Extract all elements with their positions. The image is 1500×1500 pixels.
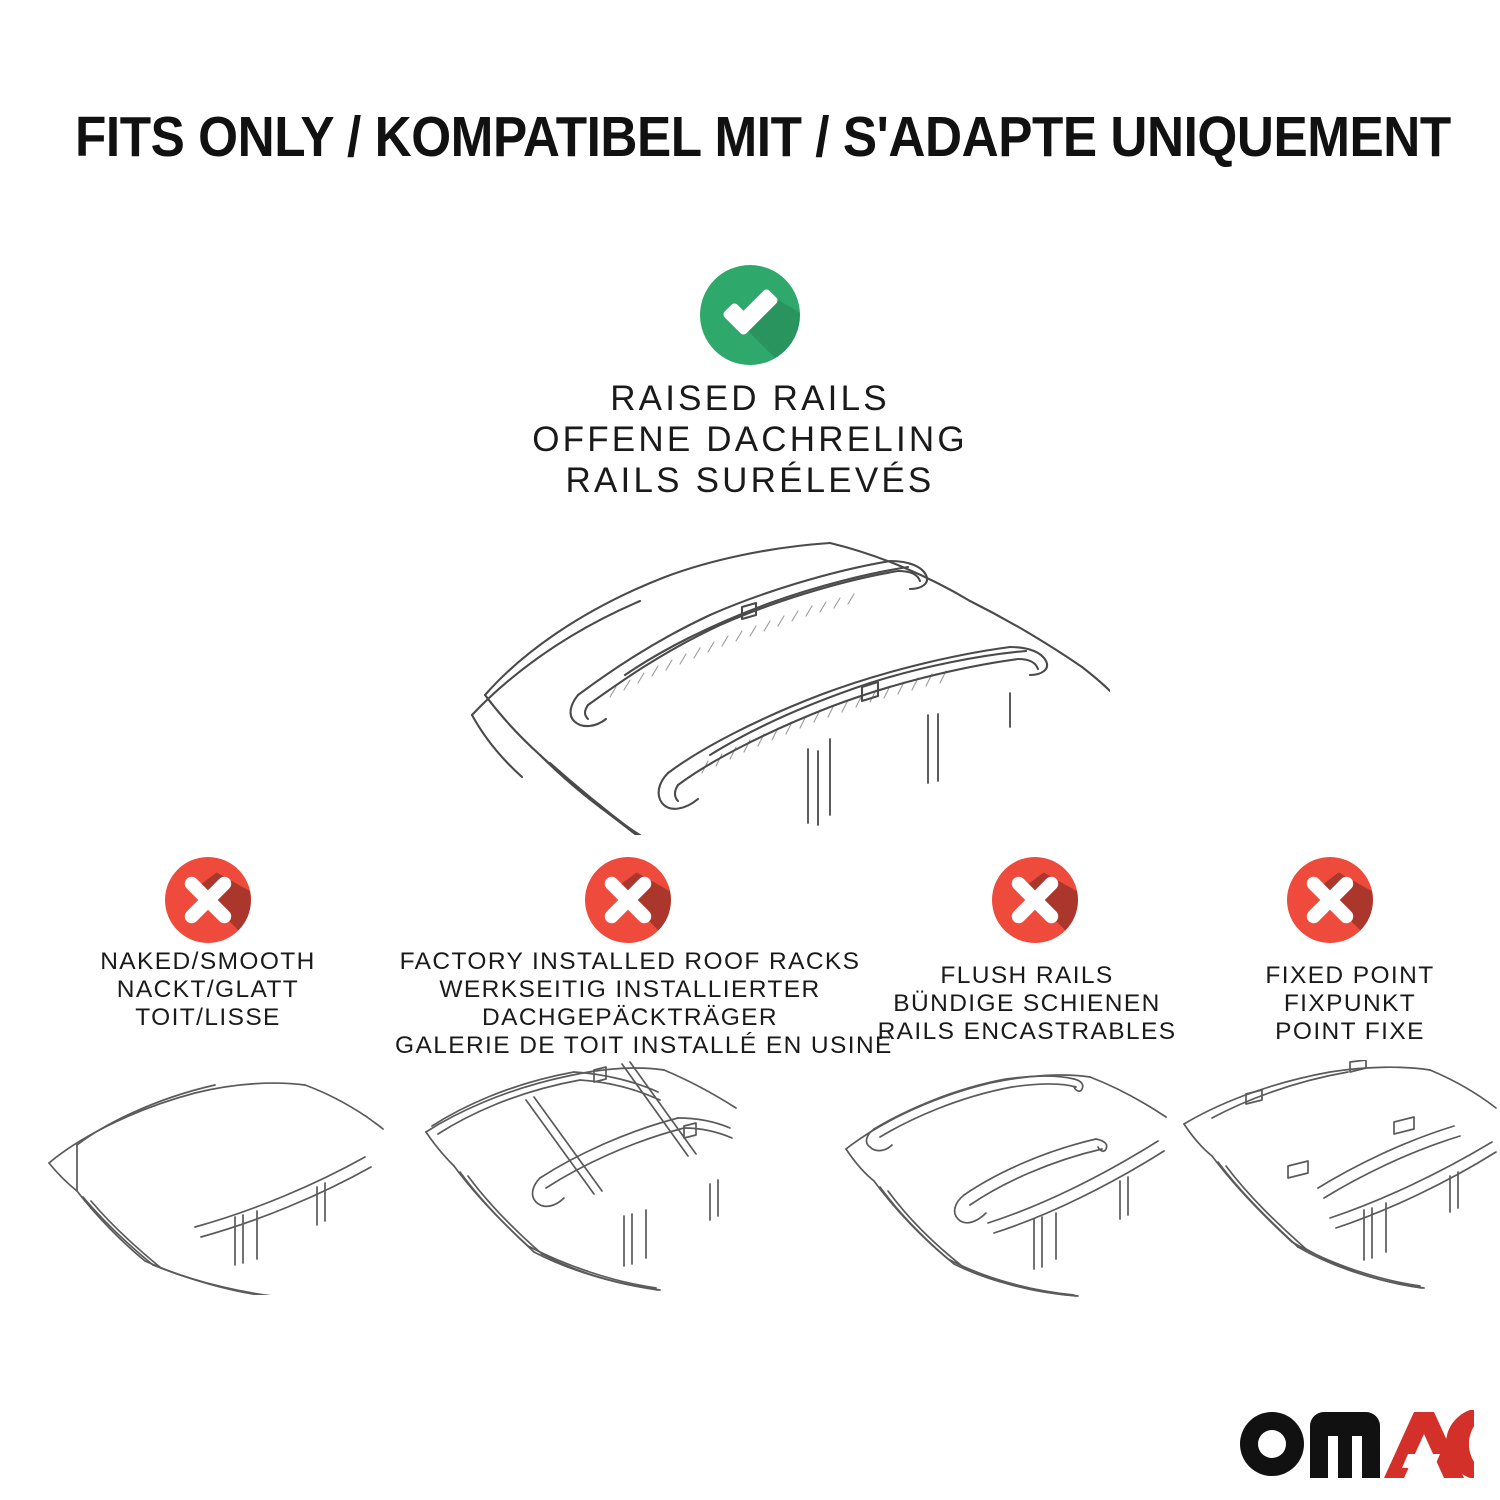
label-line: NACKT/GLATT [28, 976, 388, 1004]
incompatible-label-fixed-point: FIXED POINT FIXPUNKT POINT FIXE [1205, 962, 1495, 1046]
incompatible-label-flush-rails: FLUSH RAILS BÜNDIGE SCHIENEN RAILS ENCAS… [862, 962, 1192, 1046]
x-circle-icon [1287, 857, 1373, 943]
label-line: FLUSH RAILS [862, 962, 1192, 990]
incompatible-label-naked-smooth: NAKED/SMOOTH NACKT/GLATT TOIT/LISSE [28, 948, 388, 1032]
label-line: NAKED/SMOOTH [28, 948, 388, 976]
label-line: RAILS ENCASTRABLES [862, 1018, 1192, 1046]
label-line: FIXED POINT [1205, 962, 1495, 990]
fitment-infographic: FITS ONLY / KOMPATIBEL MIT / S'ADAPTE UN… [0, 0, 1500, 1500]
label-line: FIXPUNKT [1205, 990, 1495, 1018]
omac-logo [1238, 1410, 1474, 1478]
label-line: TOIT/LISSE [28, 1004, 388, 1032]
x-circle-icon [585, 857, 671, 943]
page-title: FITS ONLY / KOMPATIBEL MIT / S'ADAPTE UN… [75, 104, 1425, 170]
car-roof-factory-racks-illustration [398, 1060, 758, 1300]
x-circle-icon [992, 857, 1078, 943]
car-roof-flush-rails-illustration [828, 1063, 1178, 1298]
label-line: POINT FIXE [1205, 1018, 1495, 1046]
car-roof-fixed-point-illustration [1168, 1060, 1498, 1300]
label-line: WERKSEITIG INSTALLIERTER [395, 976, 865, 1004]
compatible-label-de: OFFENE DACHRELING [300, 419, 1200, 460]
label-line: FACTORY INSTALLED ROOF RACKS [395, 948, 865, 976]
check-circle-icon [700, 265, 800, 365]
compatible-label: RAISED RAILS OFFENE DACHRELING RAILS SUR… [300, 378, 1200, 501]
car-roof-raised-rails-illustration [410, 515, 1110, 835]
label-line: DACHGEPÄCKTRÄGER [395, 1004, 865, 1032]
compatible-label-en: RAISED RAILS [300, 378, 1200, 419]
incompatible-label-factory-racks: FACTORY INSTALLED ROOF RACKS WERKSEITIG … [395, 948, 865, 1060]
compatible-label-fr: RAILS SURÉLEVÉS [300, 460, 1200, 501]
label-line: BÜNDIGE SCHIENEN [862, 990, 1192, 1018]
car-roof-naked-smooth-illustration [35, 1065, 385, 1295]
label-line: GALERIE DE TOIT INSTALLÉ EN USINE [395, 1032, 865, 1060]
x-circle-icon [165, 857, 251, 943]
